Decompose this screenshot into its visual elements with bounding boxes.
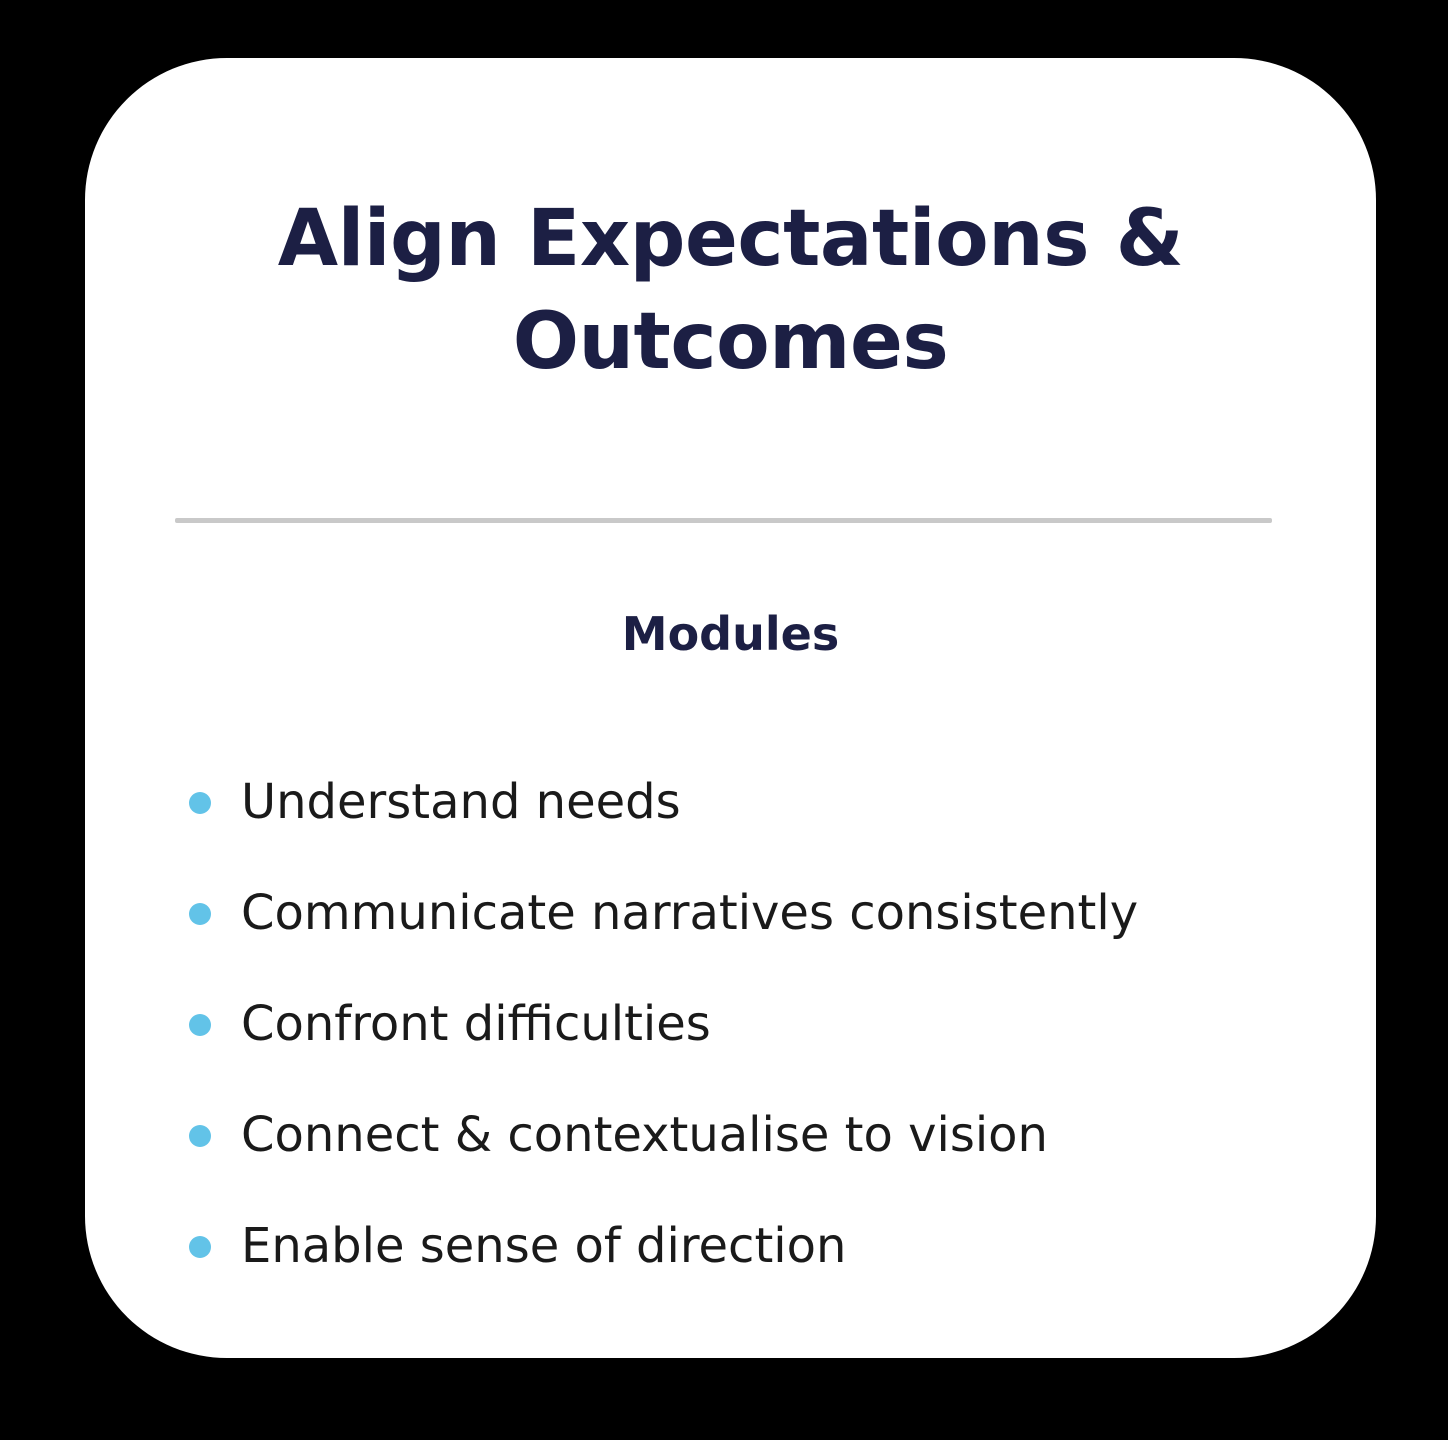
bullet-dot-icon — [189, 792, 211, 814]
list-item: Confront difficulties — [189, 969, 1349, 1080]
section-heading-modules: Modules — [185, 609, 1276, 660]
modules-list: Understand needs Communicate narratives … — [189, 747, 1349, 1302]
bullet-dot-icon — [189, 1236, 211, 1258]
title-divider — [175, 518, 1272, 523]
list-item: Enable sense of direction — [189, 1191, 1349, 1302]
list-item: Connect & contextualise to vision — [189, 1080, 1349, 1191]
list-item-label: Communicate narratives consistently — [241, 888, 1138, 938]
bullet-dot-icon — [189, 903, 211, 925]
list-item: Communicate narratives consistently — [189, 858, 1349, 969]
page-title: Align Expectations & Outcomes — [185, 188, 1276, 394]
slide-canvas: Align Expectations & Outcomes Modules Un… — [0, 0, 1448, 1440]
list-item: Understand needs — [189, 747, 1349, 858]
list-item-label: Connect & contextualise to vision — [241, 1110, 1048, 1160]
list-item-label: Confront difficulties — [241, 999, 711, 1049]
bullet-dot-icon — [189, 1125, 211, 1147]
bullet-dot-icon — [189, 1014, 211, 1036]
list-item-label: Understand needs — [241, 777, 681, 827]
list-item-label: Enable sense of direction — [241, 1221, 846, 1271]
module-card: Align Expectations & Outcomes Modules Un… — [85, 58, 1376, 1358]
